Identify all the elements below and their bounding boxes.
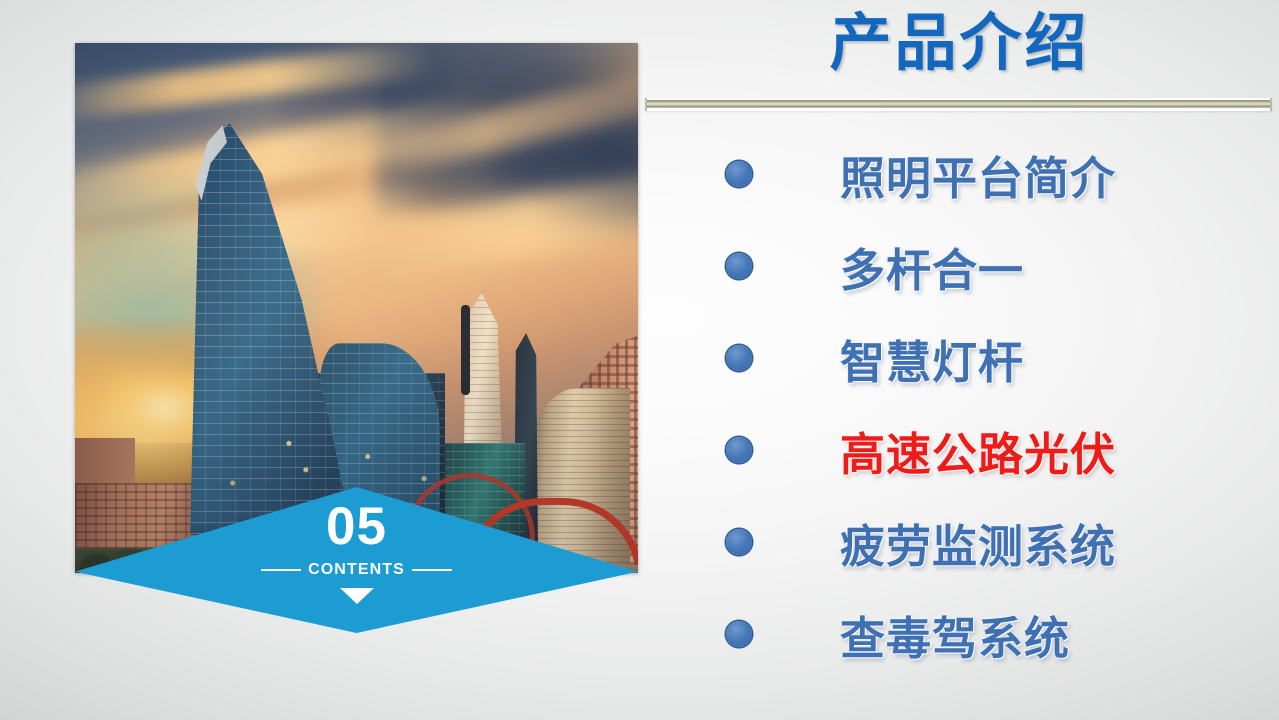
page-title: 产品介绍 — [640, 6, 1279, 79]
title-divider — [645, 98, 1272, 111]
bullet-dot-icon — [726, 437, 752, 463]
bullet-dot-icon — [726, 621, 752, 647]
list-item[interactable]: 照明平台简介 — [640, 128, 1279, 220]
list-item-label: 多杆合一 — [840, 234, 1024, 299]
list-item-label: 照明平台简介 — [840, 142, 1116, 207]
list-item[interactable]: 智慧灯杆 — [640, 312, 1279, 404]
bullet-dot-icon — [726, 529, 752, 555]
bullet-dot-icon — [726, 345, 752, 371]
list-item-label: 智慧灯杆 — [840, 326, 1024, 391]
bullet-list: 照明平台简介 多杆合一 智慧灯杆 高速公路光伏 疲劳监测系统 查毒驾系统 — [640, 128, 1279, 680]
list-item-label: 高速公路光伏 — [840, 418, 1116, 483]
list-item[interactable]: 疲劳监测系统 — [640, 496, 1279, 588]
list-item-label: 查毒驾系统 — [840, 602, 1070, 667]
content-column: 产品介绍 照明平台简介 多杆合一 智慧灯杆 高速公路光伏 疲劳监测系统 — [640, 0, 1279, 720]
list-item-highlighted[interactable]: 高速公路光伏 — [640, 404, 1279, 496]
bullet-dot-icon — [726, 161, 752, 187]
list-item-label: 疲劳监测系统 — [840, 510, 1116, 575]
bullet-dot-icon — [726, 253, 752, 279]
presentation-slide: 05 CONTENTS 产品介绍 照明平台简介 多杆合一 智慧灯杆 — [0, 0, 1279, 720]
list-item[interactable]: 查毒驾系统 — [640, 588, 1279, 680]
list-item[interactable]: 多杆合一 — [640, 220, 1279, 312]
